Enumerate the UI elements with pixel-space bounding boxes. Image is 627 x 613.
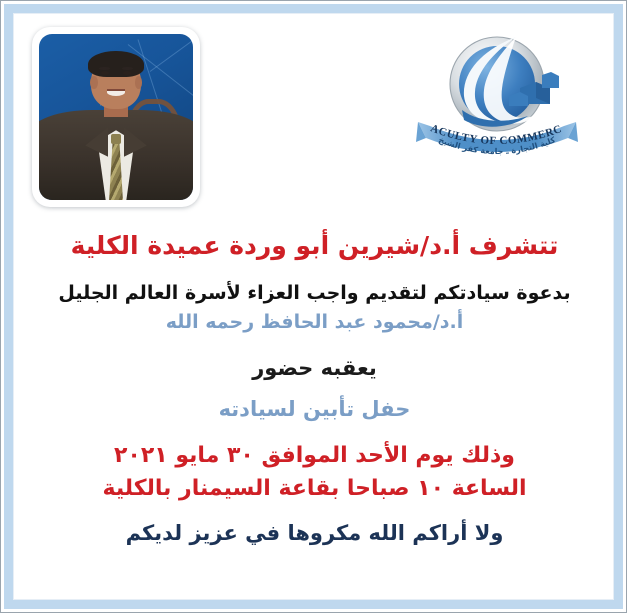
necktie-knot xyxy=(111,134,122,144)
followed-by-line: يعقبه حضور xyxy=(14,356,615,382)
invitation-card: FACULTY OF COMMERCE كلية التجارة ـ جامعة… xyxy=(0,0,627,613)
time-location-line: الساعة ١٠ صباحا بقاعة السيمنار بالكلية xyxy=(14,476,615,503)
photo-background-line xyxy=(150,34,193,71)
portrait-frame xyxy=(32,27,200,207)
card-body: تتشرف أ.د/شيرين أبو وردة عميدة الكلية بد… xyxy=(14,219,615,546)
date-line: وذلك يوم الأحد الموافق ٣٠ مايو ٢٠٢١ xyxy=(14,443,615,470)
ear-right xyxy=(135,76,143,89)
honour-line: تتشرف أ.د/شيرين أبو وردة عميدة الكلية xyxy=(14,231,615,262)
deceased-name: أ.د/محمود عبد الحافظ رحمه الله xyxy=(14,311,615,334)
hair xyxy=(88,51,143,78)
invitation-line: بدعوة سيادتكم لتقديم واجب العزاء لأسرة ا… xyxy=(14,282,615,305)
card-surface: FACULTY OF COMMERCE كلية التجارة ـ جامعة… xyxy=(14,14,615,601)
faculty-logo-icon: FACULTY OF COMMERCE كلية التجارة ـ جامعة… xyxy=(412,26,582,166)
faculty-logo: FACULTY OF COMMERCE كلية التجارة ـ جامعة… xyxy=(412,26,582,166)
ceremony-line: حفل تأبين لسيادته xyxy=(14,397,615,423)
card-header: FACULTY OF COMMERCE كلية التجارة ـ جامعة… xyxy=(14,14,615,219)
portrait-photo xyxy=(39,34,193,200)
eyebrow-right xyxy=(122,67,133,70)
ear-left xyxy=(90,76,98,89)
eyebrow-left xyxy=(99,67,110,70)
closing-line: ولا أراكم الله مكروها في عزيز لديكم xyxy=(14,521,615,547)
